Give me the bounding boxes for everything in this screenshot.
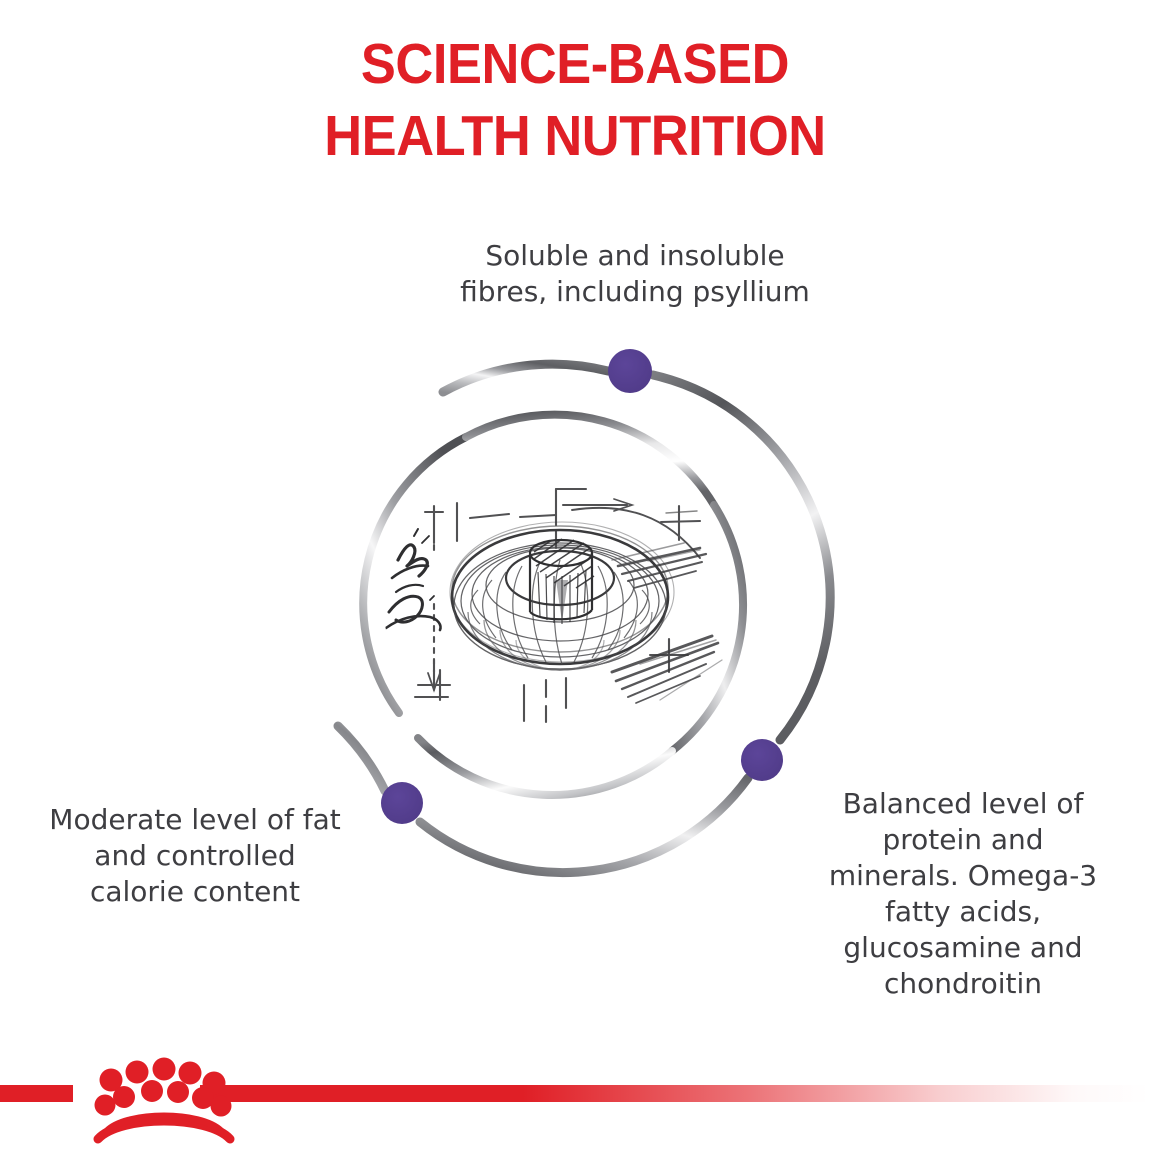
outer-arc-bottom xyxy=(420,778,748,873)
callout-fibres-line-2: fibres, including psyllium xyxy=(355,274,915,310)
callout-protein-line-4: fatty acids, xyxy=(793,894,1133,930)
outer-arc-left xyxy=(338,726,385,791)
sketch-shading-strokes xyxy=(612,543,722,703)
callout-protein-line-5: glucosamine and xyxy=(793,930,1133,966)
page-title-line-2: HEALTH NUTRITION xyxy=(46,100,1104,172)
footer-svg xyxy=(0,1055,1150,1150)
crown-dot-top-2 xyxy=(126,1061,149,1084)
callout-fibres: Soluble and insoluble fibres, including … xyxy=(355,238,915,310)
node-protein[interactable] xyxy=(741,739,783,781)
callout-fat: Moderate level of fat and controlled cal… xyxy=(10,802,380,910)
inner-arc-4 xyxy=(418,738,672,795)
callout-fat-line-1: Moderate level of fat xyxy=(10,802,380,838)
crown-dot-top-3 xyxy=(153,1058,176,1081)
sketch-kibble-body xyxy=(450,522,674,664)
sketch-dimension-marks xyxy=(415,489,700,722)
sketch-wireframe-meridians xyxy=(471,560,650,664)
footer-bar-left xyxy=(0,1085,73,1102)
diagram-nodes xyxy=(381,349,783,824)
callout-fat-line-3: calorie content xyxy=(10,874,380,910)
crown-dot-mid-2 xyxy=(141,1080,163,1102)
crown-dot-low-right xyxy=(211,1096,232,1117)
inner-arc-1 xyxy=(363,437,466,713)
sketch-wireframe-latitudes xyxy=(454,543,666,670)
callout-protein-line-3: minerals. Omega-3 xyxy=(793,858,1133,894)
footer-bar-right xyxy=(200,1085,1150,1102)
footer-brand-bar xyxy=(0,1055,1150,1150)
callout-fibres-line-1: Soluble and insoluble xyxy=(355,238,915,274)
inner-ring xyxy=(363,415,743,795)
sketch-handwriting-annotation xyxy=(386,529,441,630)
outer-ring xyxy=(338,364,830,872)
callout-protein-line-6: chondroitin xyxy=(793,966,1133,1002)
inner-arc-3 xyxy=(672,505,743,751)
node-fat[interactable] xyxy=(381,782,423,824)
callout-protein-line-2: protein and xyxy=(793,822,1133,858)
node-fibres[interactable] xyxy=(608,349,652,393)
callout-protein: Balanced level of protein and minerals. … xyxy=(793,786,1133,1002)
royal-canin-crown-logo xyxy=(95,1058,232,1140)
crown-dot-mid-3 xyxy=(167,1081,189,1103)
page-title: SCIENCE-BASED HEALTH NUTRITION xyxy=(0,28,1150,172)
sketch-centre-cone xyxy=(530,539,594,624)
callout-protein-line-1: Balanced level of xyxy=(793,786,1133,822)
callout-fat-line-2: and controlled xyxy=(10,838,380,874)
outer-arc-right xyxy=(653,375,830,740)
crown-dot-low-left xyxy=(95,1095,116,1116)
inner-arc-2 xyxy=(466,415,714,505)
page-title-line-1: SCIENCE-BASED xyxy=(46,28,1104,100)
crown-dot-top-4 xyxy=(179,1062,202,1085)
crown-dot-mid-1 xyxy=(113,1086,135,1108)
outer-arc-top-left xyxy=(443,364,608,392)
kibble-technical-sketch xyxy=(386,489,722,722)
